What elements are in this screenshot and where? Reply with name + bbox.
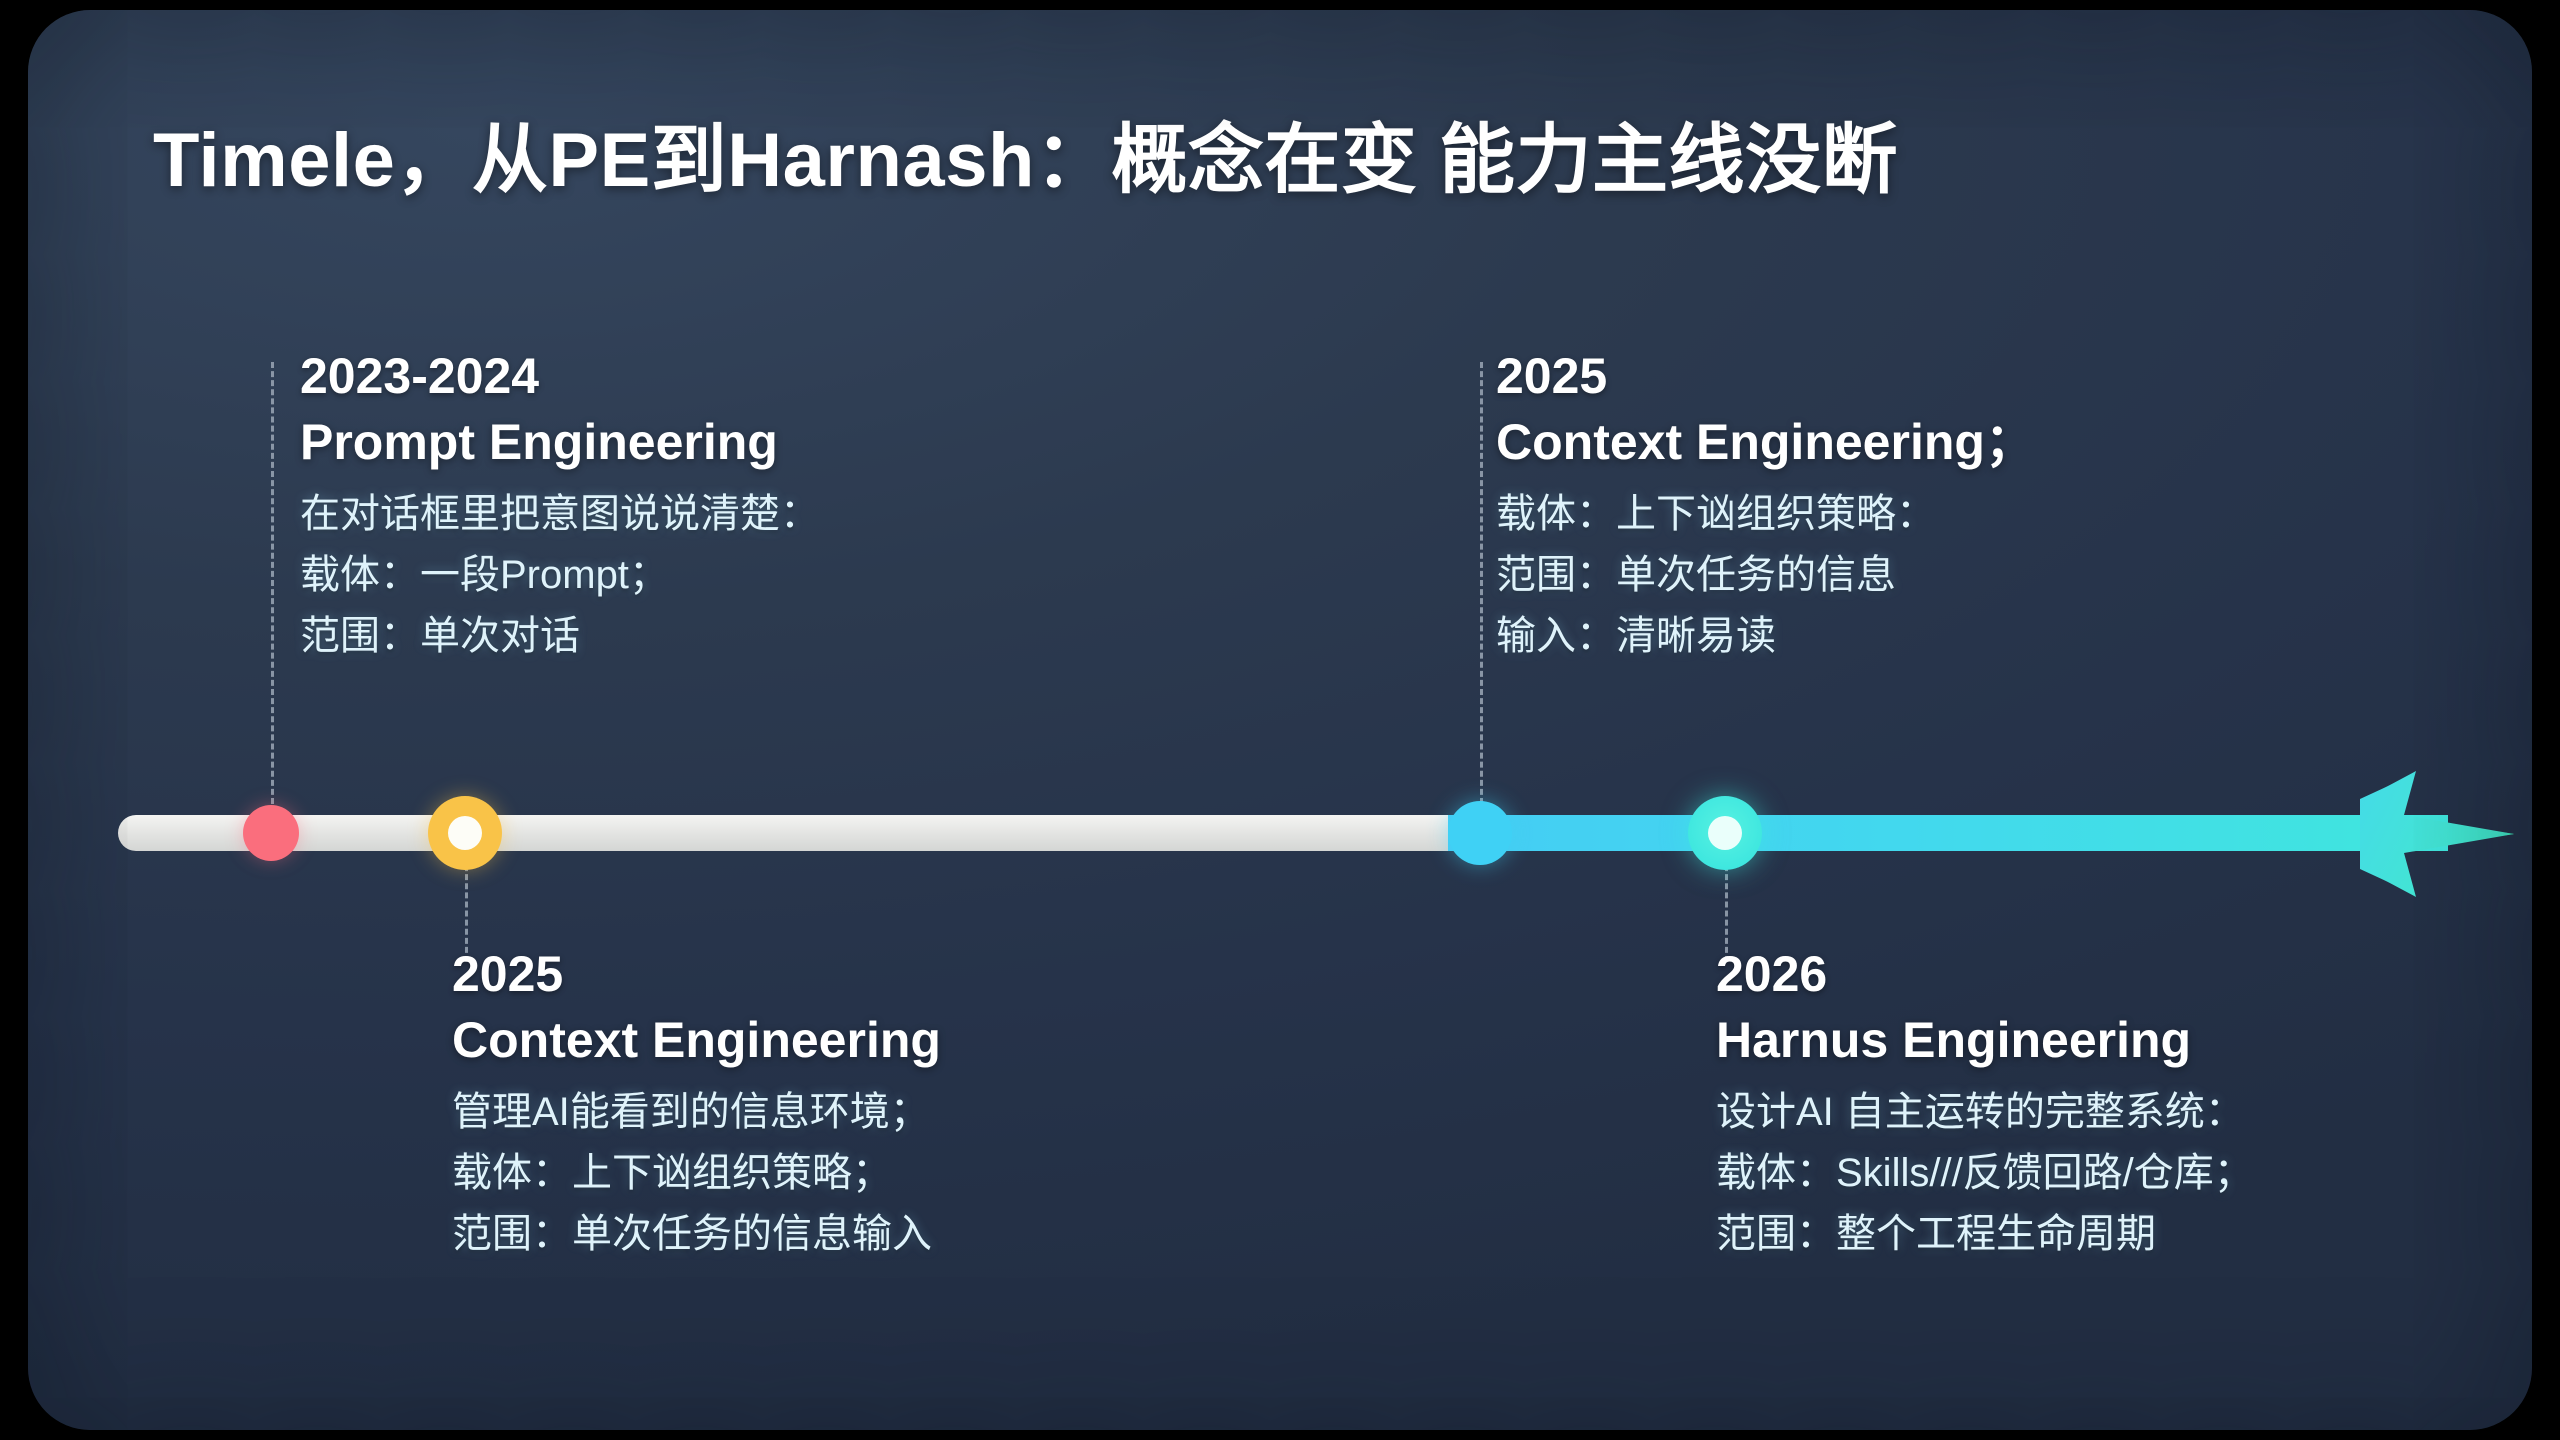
timeline-entry-2023-2024: 2023-2024 Prompt Engineering 在对话框里把意图说说清… (300, 348, 820, 666)
entry-name: Harnus Engineering (1716, 1010, 2254, 1070)
marker-core (448, 816, 482, 850)
marker-core (1708, 816, 1742, 850)
timeline-entry-2025-context-upper: 2025 Context Engineering； 载体：上下讻组织策略： 范围… (1496, 348, 2035, 666)
entry-name: Prompt Engineering (300, 412, 820, 472)
entry-name: Context Engineering； (1496, 412, 2035, 472)
timeline-marker-1[interactable] (243, 805, 299, 861)
timeline-marker-2[interactable] (428, 796, 502, 870)
entry-description: 在对话框里把意图说说清楚： 载体：一段Prompt； 范围：单次对话 (300, 484, 820, 666)
entry-name: Context Engineering (452, 1010, 941, 1070)
entry-description: 载体：上下讻组织策略： 范围：单次任务的信息 输入：清晰易读 (1496, 484, 2035, 666)
slide-card: Timele，从PE到Harnash：概念在变 能力主线没断 (28, 10, 2532, 1430)
entry-line: 范围：单次任务的信息 (1496, 545, 2035, 606)
timeline-bar-future (1448, 815, 2448, 851)
entry-description: 管理AI能看到的信息环境； 载体：上下讻组织策略； 范围：单次任务的信息输入 (452, 1082, 941, 1264)
timeline-arrow-icon (2358, 755, 2518, 913)
timeline-entry-2026-harnus: 2026 Harnus Engineering 设计AI 自主运转的完整系统： … (1716, 946, 2254, 1264)
connector-line-1 (271, 362, 274, 804)
entry-line: 载体：一段Prompt； (300, 545, 820, 606)
entry-year: 2025 (1496, 348, 2035, 404)
entry-year: 2025 (452, 946, 941, 1002)
entry-year: 2026 (1716, 946, 2254, 1002)
timeline-bar-past (118, 815, 1488, 851)
entry-line: 载体：上下讻组织策略； (452, 1143, 941, 1204)
entry-line: 载体：Skills///反馈回路/仓库； (1716, 1143, 2254, 1204)
entry-line: 载体：上下讻组织策略： (1496, 484, 2035, 545)
entry-line: 范围：单次对话 (300, 606, 820, 667)
entry-year: 2023-2024 (300, 348, 820, 404)
entry-line: 管理AI能看到的信息环境； (452, 1082, 941, 1143)
timeline: 2023-2024 Prompt Engineering 在对话框里把意图说说清… (28, 10, 2532, 1430)
entry-line: 范围：整个工程生命周期 (1716, 1204, 2254, 1265)
entry-line: 在对话框里把意图说说清楚： (300, 484, 820, 545)
entry-description: 设计AI 自主运转的完整系统： 载体：Skills///反馈回路/仓库； 范围：… (1716, 1082, 2254, 1264)
timeline-marker-4[interactable] (1688, 796, 1762, 870)
timeline-entry-2025-context-lower: 2025 Context Engineering 管理AI能看到的信息环境； 载… (452, 946, 941, 1264)
connector-line-3 (1480, 362, 1483, 804)
timeline-marker-3[interactable] (1448, 801, 1512, 865)
entry-line: 输入：清晰易读 (1496, 606, 2035, 667)
entry-line: 范围：单次任务的信息输入 (452, 1204, 941, 1265)
entry-line: 设计AI 自主运转的完整系统： (1716, 1082, 2254, 1143)
